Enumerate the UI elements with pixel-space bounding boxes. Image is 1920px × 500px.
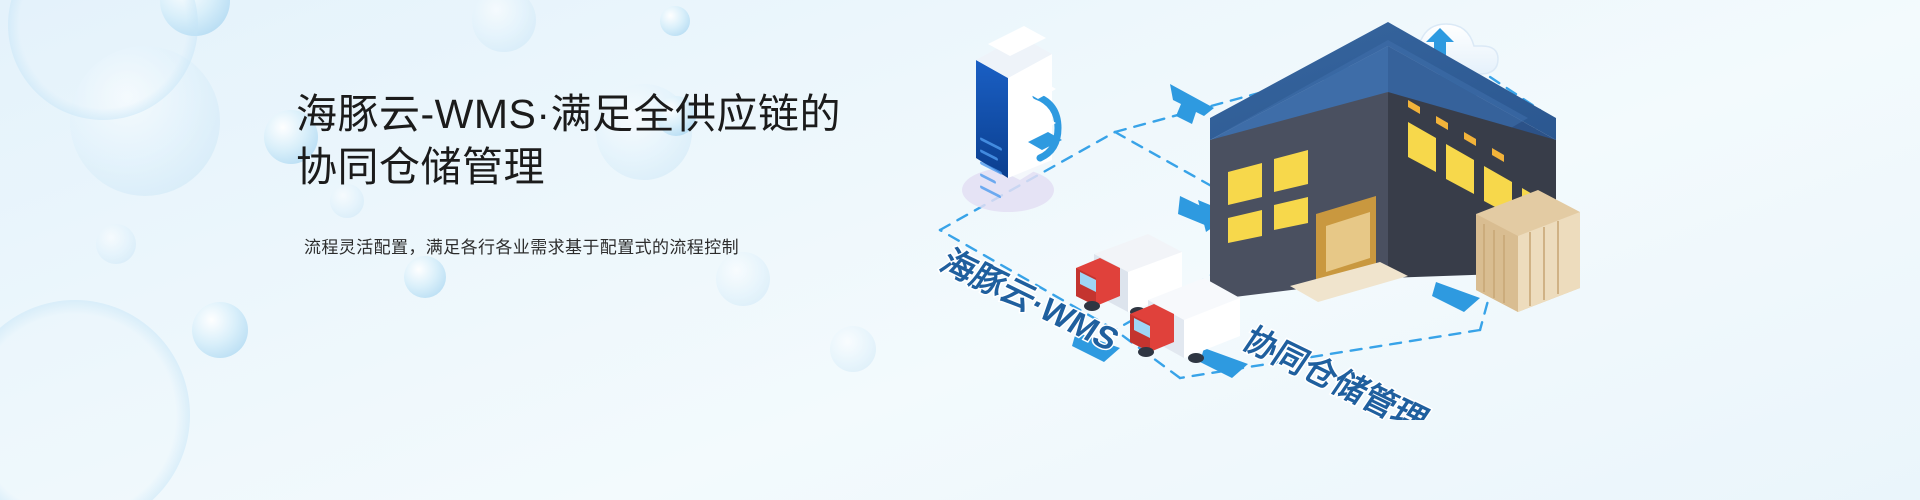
bubble-icon [96, 224, 136, 264]
page-title: 海豚云-WMS·满足全供应链的 协同仓储管理 [296, 88, 896, 194]
warehouse-illustration: 海豚云·WMS 协同仓储管理 [880, 0, 1580, 420]
hero-banner: 海豚云-WMS·满足全供应链的 协同仓储管理 流程灵活配置，满足各行各业需求基于… [0, 0, 1920, 500]
bubble-icon [8, 0, 198, 120]
bubble-icon [160, 0, 230, 36]
bubble-icon [0, 300, 190, 500]
page-subtitle: 流程灵活配置，满足各行各业需求基于配置式的流程控制 [304, 235, 896, 261]
bubble-icon [830, 326, 876, 372]
bubble-icon [192, 302, 248, 358]
title-line-2: 协同仓储管理 [296, 141, 896, 194]
bubble-icon [70, 46, 220, 196]
svg-text:协同仓储管理: 协同仓储管理 [1236, 322, 1435, 420]
bubble-icon [472, 0, 536, 52]
title-line-1: 海豚云-WMS·满足全供应链的 [296, 88, 896, 141]
illustration-label-right: 协同仓储管理 [1236, 322, 1435, 420]
bubble-icon [404, 256, 446, 298]
shipping-container-icon [1476, 190, 1580, 312]
hero-copy: 海豚云-WMS·满足全供应链的 协同仓储管理 流程灵活配置，满足各行各业需求基于… [296, 88, 896, 261]
server-rack-icon [962, 26, 1062, 212]
bubble-icon [660, 6, 690, 36]
